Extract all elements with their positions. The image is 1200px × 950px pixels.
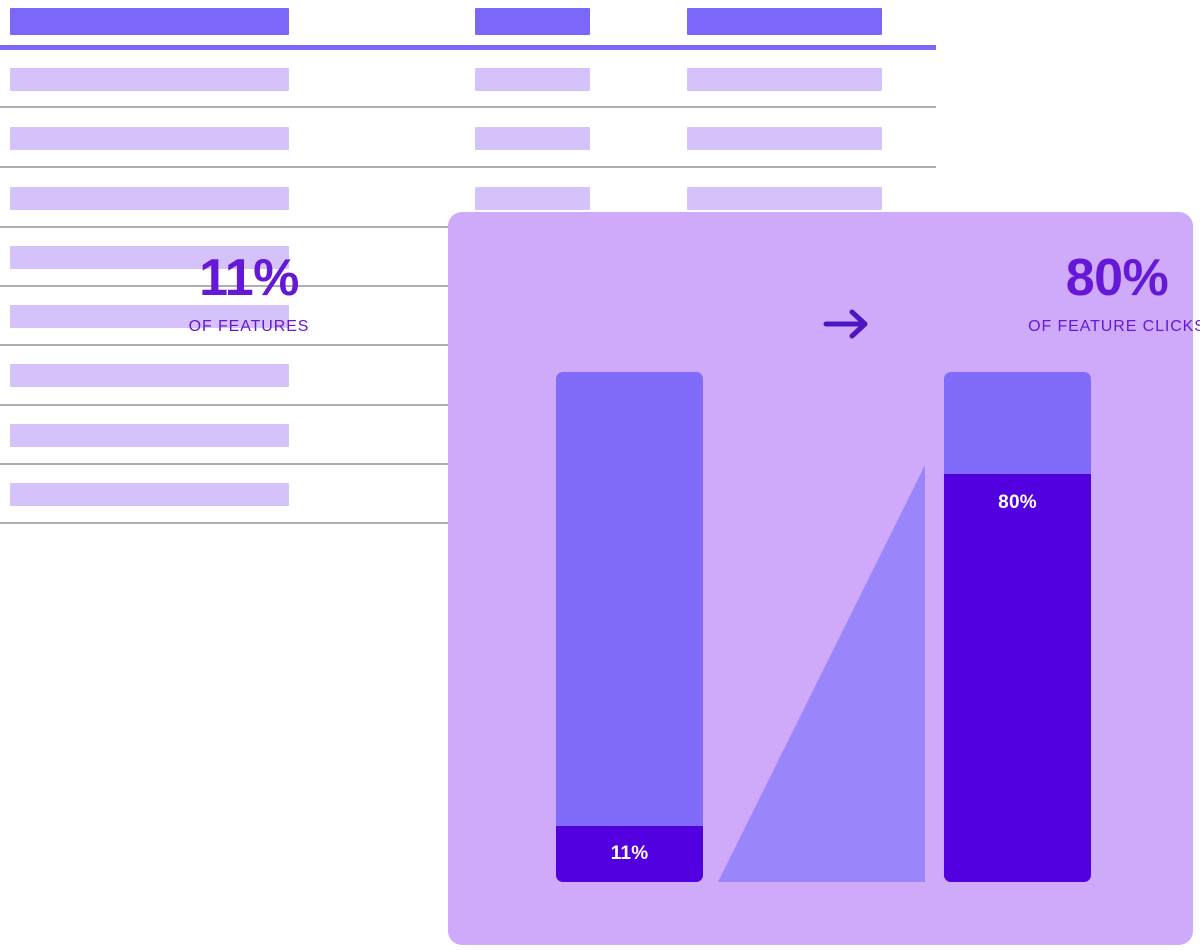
cell-col2 [475, 187, 590, 210]
left-stat-value: 11% [99, 252, 399, 304]
bar-of-feature-clicks: 80% [944, 372, 1091, 882]
cell-col1 [10, 424, 289, 447]
header-cell-col1 [10, 8, 289, 35]
header-divider [0, 45, 936, 50]
left-stat-block: 11% OF FEATURES [99, 252, 399, 336]
bar-value-label-left: 11% [556, 843, 703, 865]
bar-fill-right: 80% [944, 474, 1091, 882]
table-header-row [0, 0, 936, 59]
cell-col1 [10, 483, 289, 506]
bar-track-left: 11% [556, 372, 703, 882]
header-cell-col3 [687, 8, 882, 35]
screenshot-stage: 11% OF FEATURES 80% OF FEATURE CLICKS [0, 0, 1200, 950]
cell-col1 [10, 364, 289, 387]
feature-adoption-stat-card: 11% OF FEATURES 80% OF FEATURE CLICKS [448, 212, 1193, 945]
cell-col2 [475, 127, 590, 150]
cell-col1 [10, 187, 289, 210]
table-row [0, 58, 936, 117]
comparison-bar-chart: 11% 80% [448, 212, 1193, 945]
rising-trend-wedge-icon [718, 465, 925, 882]
bar-value-label-right: 80% [944, 492, 1091, 514]
row-divider [0, 106, 936, 108]
cell-col1 [10, 127, 289, 150]
bar-of-features: 11% [556, 372, 703, 882]
cell-col1 [10, 68, 289, 91]
cell-col3 [687, 68, 882, 91]
cell-col2 [475, 68, 590, 91]
bar-fill-left: 11% [556, 826, 703, 882]
bar-track-right: 80% [944, 372, 1091, 882]
left-stat-label: OF FEATURES [99, 318, 399, 336]
cell-col3 [687, 187, 882, 210]
row-divider [0, 166, 936, 168]
cell-col3 [687, 127, 882, 150]
header-cell-col2 [475, 8, 590, 35]
